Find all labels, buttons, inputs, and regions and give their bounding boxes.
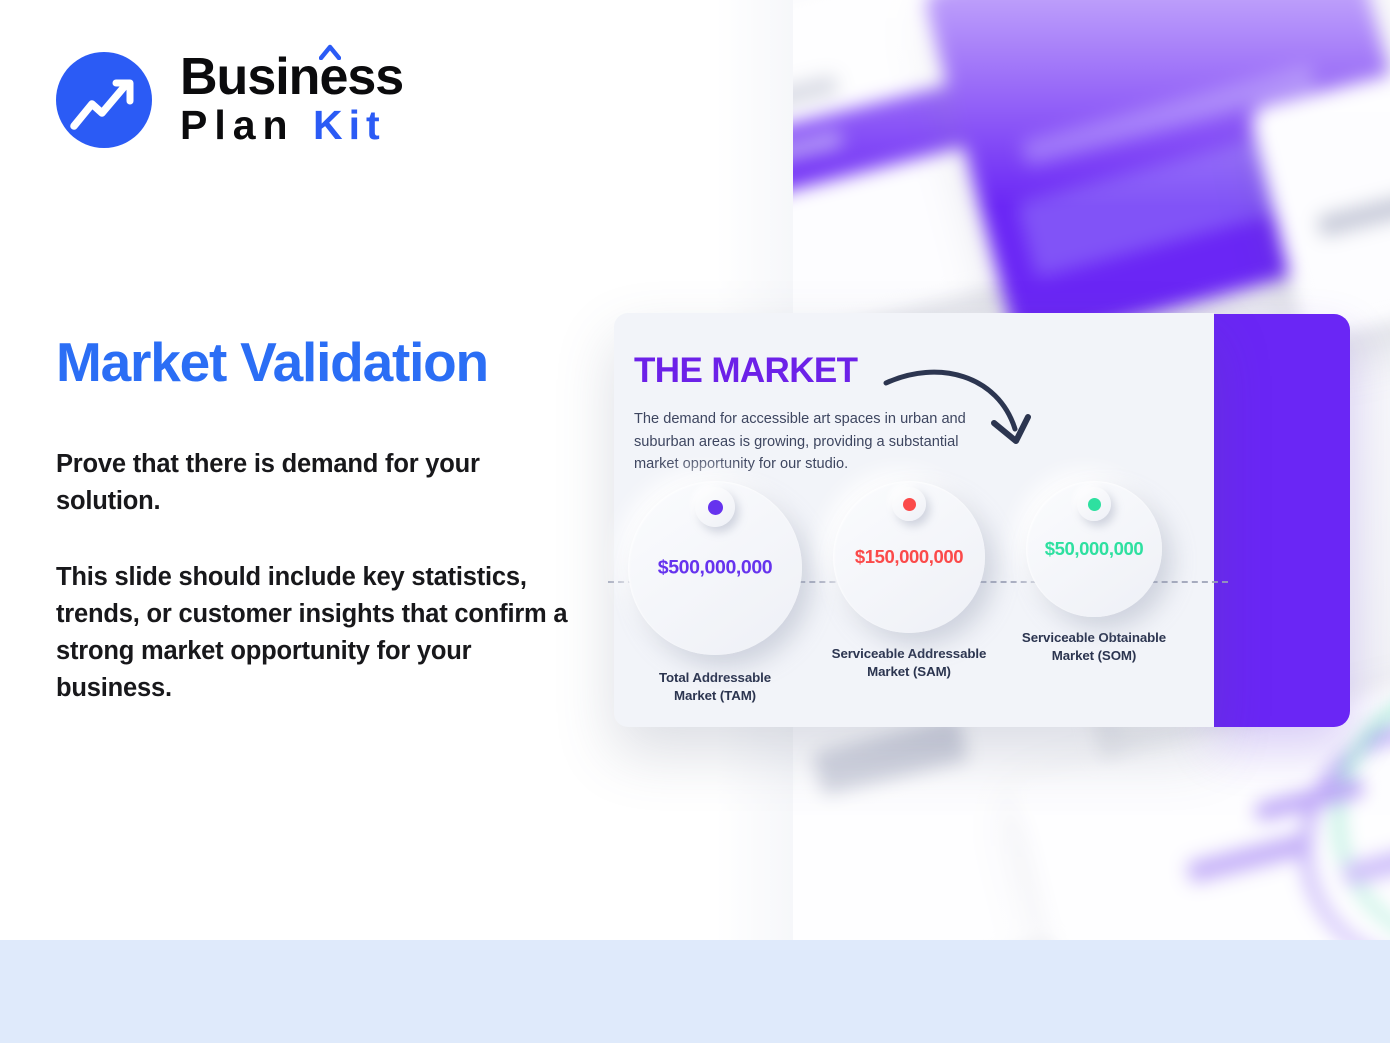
metric-label-line2: Market (TAM) — [674, 688, 756, 703]
body-paragraph-1: Prove that there is demand for your solu… — [56, 446, 576, 520]
brand-line-business: Business — [180, 53, 403, 102]
metric-knob — [1077, 487, 1111, 521]
metric-amount: $500,000,000 — [628, 557, 802, 580]
brand-business-text: Business — [180, 48, 403, 106]
page-title: Market Validation — [56, 333, 488, 392]
metric-label-line2: Market (SOM) — [1052, 648, 1137, 663]
brand-kit-text: Kit — [313, 102, 386, 148]
metric-knob-dot — [708, 500, 723, 515]
metric-label: Serviceable Addressable Market (SAM) — [818, 645, 1000, 680]
brand-logo: Business Plan Kit — [56, 52, 403, 148]
growth-arrow-icon — [56, 52, 152, 148]
metric-label: Serviceable Obtainable Market (SOM) — [1003, 629, 1185, 664]
metric-som: $50,000,000 Serviceable Obtainable Marke… — [1003, 481, 1185, 664]
brand-line-plan-kit: Plan Kit — [180, 104, 403, 147]
metric-label: Total Addressable Market (TAM) — [624, 669, 806, 704]
body-paragraph-2: This slide should include key statistics… — [56, 559, 576, 708]
market-card: THE MARKET The demand for accessible art… — [614, 313, 1214, 727]
metric-knob — [695, 487, 735, 527]
metric-knob — [892, 487, 926, 521]
metrics-row: $500,000,000 Total Addressable Market (T… — [614, 481, 1214, 681]
metric-amount: $50,000,000 — [1026, 538, 1162, 560]
metric-dial: $150,000,000 — [833, 481, 985, 633]
metric-label-line1: Serviceable Obtainable — [1022, 630, 1166, 645]
metric-sam: $150,000,000 Serviceable Addressable Mar… — [818, 481, 1000, 680]
metric-knob-dot — [903, 498, 916, 511]
bottom-accent-strip — [0, 940, 1390, 1043]
metric-knob-dot — [1088, 498, 1101, 511]
brand-wordmark: Business Plan Kit — [180, 53, 403, 147]
slide-canvas: Business Plan Kit Market Validation Prov… — [0, 0, 1390, 1043]
market-card-title: THE MARKET — [634, 351, 857, 391]
metric-amount: $150,000,000 — [833, 546, 985, 568]
metric-label-line1: Serviceable Addressable — [832, 646, 987, 661]
metric-label-line2: Market (SAM) — [867, 664, 951, 679]
caret-accent-icon — [319, 44, 341, 60]
metric-label-line1: Total Addressable — [659, 670, 771, 685]
metric-dial: $500,000,000 — [628, 481, 802, 655]
metric-tam: $500,000,000 Total Addressable Market (T… — [624, 481, 806, 704]
metric-dial: $50,000,000 — [1026, 481, 1162, 617]
curved-arrow-down-right-icon — [882, 361, 1042, 461]
market-card-purple-panel — [1214, 314, 1350, 727]
brand-plan-text: Plan — [180, 102, 295, 148]
